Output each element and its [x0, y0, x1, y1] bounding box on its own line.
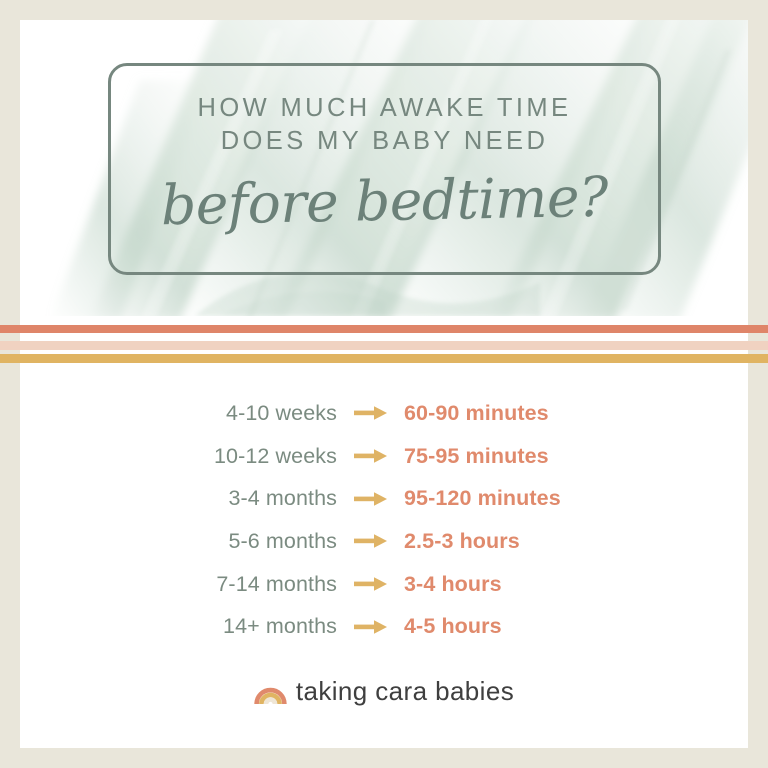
infographic-canvas: HOW MUCH AWAKE TIME DOES MY BABY NEED be… [20, 20, 748, 748]
headline-line-2: DOES MY BABY NEED [221, 125, 549, 158]
title-block: HOW MUCH AWAKE TIME DOES MY BABY NEED be… [108, 63, 661, 275]
infographic-card: HOW MUCH AWAKE TIME DOES MY BABY NEED be… [0, 0, 768, 768]
headline-line-1: HOW MUCH AWAKE TIME [198, 92, 572, 125]
script-subtitle: before bedtime? [160, 158, 608, 245]
